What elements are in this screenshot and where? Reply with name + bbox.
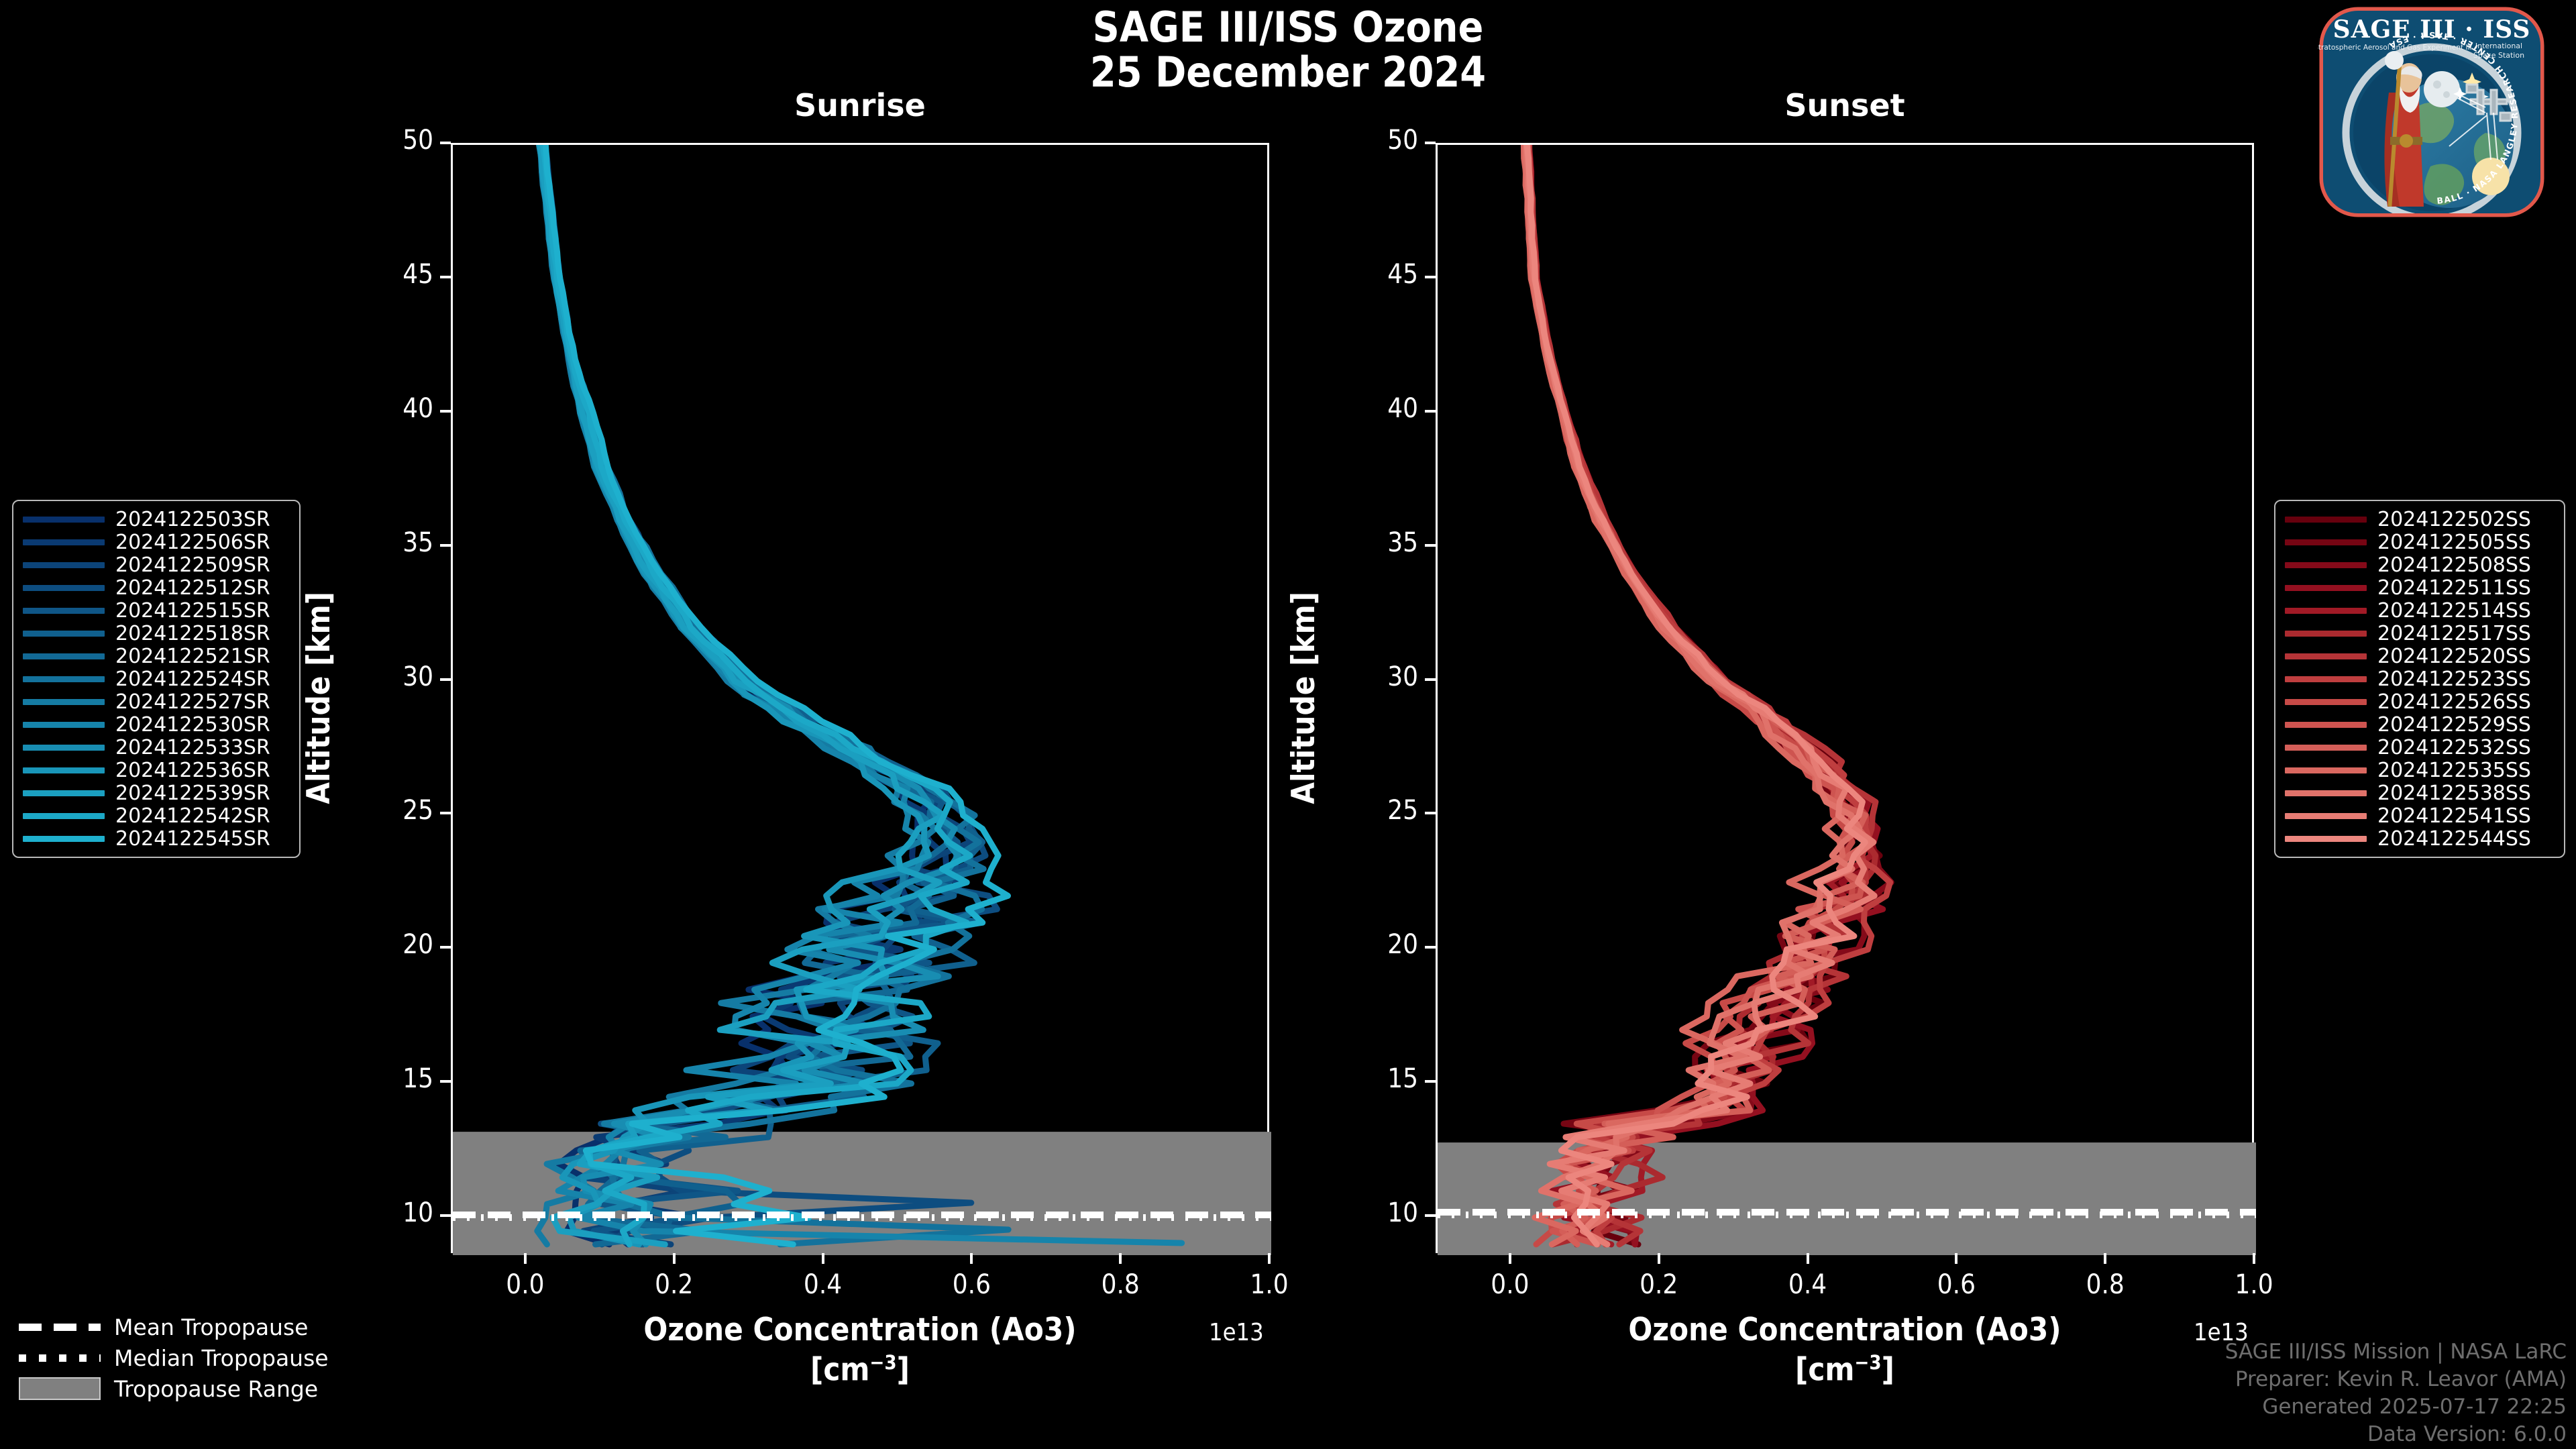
legend-item-label: 2024122502SS bbox=[2377, 508, 2531, 531]
tropopause-legend-label: Median Tropopause bbox=[114, 1345, 329, 1371]
patch-subtitle-left: Stratospheric Aerosol and Gas Experiment… bbox=[2318, 44, 2472, 52]
y-tick-mark bbox=[1425, 1080, 1436, 1083]
sage-iii-iss-mission-patch-logo: BALL · NASA LANGLEY RESEARCH CENTER · TA… bbox=[2318, 5, 2546, 219]
x-tick-mark bbox=[1268, 1253, 1271, 1264]
legend-item[interactable]: 2024122533SR bbox=[23, 736, 290, 759]
legend-item-label: 2024122511SS bbox=[2377, 576, 2531, 600]
x-tick-label: 0.2 bbox=[627, 1269, 721, 1300]
x-axis-offset-label: 1e13 bbox=[1209, 1319, 1264, 1346]
y-tick-label: 30 bbox=[364, 661, 433, 692]
legend-item[interactable]: 2024122541SS bbox=[2285, 804, 2555, 827]
mission-patch-svg: BALL · NASA LANGLEY RESEARCH CENTER · TA… bbox=[2318, 5, 2546, 219]
patch-title: SAGE III · ISS bbox=[2333, 15, 2531, 44]
legend-item-label: 2024122530SR bbox=[115, 713, 270, 737]
legend-item-label: 2024122523SS bbox=[2377, 667, 2531, 691]
tropopause-band-swatch bbox=[19, 1377, 101, 1400]
legend-item-label: 2024122521SR bbox=[115, 645, 270, 668]
legend-item-label: 2024122527SR bbox=[115, 690, 270, 714]
y-tick-mark bbox=[440, 1214, 451, 1217]
plot-axes-sunrise bbox=[451, 143, 1269, 1253]
y-axis-title: Altitude [km] bbox=[1285, 142, 1324, 1252]
legend-item[interactable]: 2024122515SR bbox=[23, 599, 290, 622]
x-tick-mark bbox=[2104, 1253, 2106, 1264]
moon-crater bbox=[2443, 91, 2450, 98]
legend-color-swatch bbox=[2285, 836, 2367, 842]
y-tick-label: 50 bbox=[1348, 125, 1418, 156]
x-axis-title-line-1: Ozone Concentration (Ao3) bbox=[451, 1311, 1269, 1350]
x-axis-title: Ozone Concentration (Ao3)[cm−3] bbox=[451, 1311, 1269, 1390]
x-tick-mark bbox=[970, 1253, 973, 1264]
tropopause-legend-label: Mean Tropopause bbox=[114, 1314, 308, 1340]
x-tick-mark bbox=[1807, 1253, 1809, 1264]
x-tick-label: 1.0 bbox=[2207, 1269, 2301, 1300]
legend-color-swatch bbox=[2285, 813, 2367, 819]
legend-color-swatch bbox=[23, 608, 105, 614]
x-tick-label: 0.2 bbox=[1612, 1269, 1706, 1300]
legend-item-label: 2024122536SR bbox=[115, 759, 270, 782]
y-tick-label: 20 bbox=[364, 929, 433, 960]
credits-line: Generated 2025-07-17 22:25 bbox=[2225, 1393, 2567, 1421]
tropopause-dotted-swatch bbox=[19, 1354, 101, 1362]
x-tick-label: 0.8 bbox=[1073, 1269, 1167, 1300]
y-tick-label: 10 bbox=[364, 1197, 433, 1228]
legend-item[interactable]: 2024122526SS bbox=[2285, 690, 2555, 713]
legend-item[interactable]: 2024122514SS bbox=[2285, 599, 2555, 622]
x-tick-mark bbox=[1955, 1253, 1957, 1264]
y-tick-mark bbox=[1425, 812, 1436, 814]
legend-color-swatch bbox=[2285, 745, 2367, 751]
x-axis-title: Ozone Concentration (Ao3)[cm−3] bbox=[1436, 1311, 2254, 1390]
legend-item-label: 2024122538SS bbox=[2377, 782, 2531, 805]
legend-item[interactable]: 2024122505SS bbox=[2285, 531, 2555, 553]
moon-crater bbox=[2433, 80, 2441, 89]
legend-item-label: 2024122539SR bbox=[115, 782, 270, 805]
legend-color-swatch bbox=[2285, 631, 2367, 637]
y-tick-mark bbox=[440, 410, 451, 413]
y-tick-mark bbox=[440, 946, 451, 949]
legend-color-swatch bbox=[2285, 539, 2367, 545]
tropopause-legend-item: Median Tropopause bbox=[19, 1342, 329, 1373]
legend-color-swatch bbox=[23, 836, 105, 842]
legend-color-swatch bbox=[23, 631, 105, 637]
legend-color-swatch bbox=[2285, 790, 2367, 796]
legend-color-swatch bbox=[23, 745, 105, 751]
legend-item-label: 2024122544SS bbox=[2377, 827, 2531, 851]
legend-item-label: 2024122542SR bbox=[115, 804, 270, 828]
profile-canvas-sunset bbox=[1438, 145, 2256, 1255]
legend-item[interactable]: 2024122524SR bbox=[23, 667, 290, 690]
plot-axes-sunset bbox=[1436, 143, 2254, 1253]
y-tick-label: 40 bbox=[1348, 393, 1418, 424]
tropopause-legend-item: Tropopause Range bbox=[19, 1373, 329, 1404]
y-axis-title: Altitude [km] bbox=[300, 142, 339, 1252]
legend-item[interactable]: 2024122512SR bbox=[23, 576, 290, 599]
legend-color-swatch bbox=[2285, 585, 2367, 591]
legend-item-label: 2024122526SS bbox=[2377, 690, 2531, 714]
legend-item[interactable]: 2024122503SR bbox=[23, 508, 290, 531]
y-tick-label: 50 bbox=[364, 125, 433, 156]
legend-color-swatch bbox=[2285, 767, 2367, 773]
x-tick-label: 0.4 bbox=[1761, 1269, 1855, 1300]
y-tick-mark bbox=[1425, 142, 1436, 144]
x-tick-mark bbox=[673, 1253, 676, 1264]
y-tick-label: 40 bbox=[364, 393, 433, 424]
y-tick-mark bbox=[440, 544, 451, 547]
y-tick-label: 35 bbox=[1348, 527, 1418, 558]
y-tick-label: 30 bbox=[1348, 661, 1418, 692]
legend-item-label: 2024122512SR bbox=[115, 576, 270, 600]
y-tick-mark bbox=[440, 678, 451, 681]
legend-item[interactable]: 2024122530SR bbox=[23, 713, 290, 736]
legend-color-swatch bbox=[2285, 608, 2367, 614]
legend-color-swatch bbox=[23, 539, 105, 545]
x-tick-mark bbox=[1119, 1253, 1122, 1264]
x-axis-title-line-1: Ozone Concentration (Ao3) bbox=[1436, 1311, 2254, 1350]
legend-item-label: 2024122529SS bbox=[2377, 713, 2531, 737]
legend-item[interactable]: 2024122527SR bbox=[23, 690, 290, 713]
x-tick-mark bbox=[2253, 1253, 2255, 1264]
y-tick-mark bbox=[1425, 544, 1436, 547]
legend-item-label: 2024122533SR bbox=[115, 736, 270, 759]
ozone-profile-line bbox=[1525, 145, 1859, 1244]
legend-item[interactable]: 2024122517SS bbox=[2285, 622, 2555, 645]
y-tick-mark bbox=[1425, 946, 1436, 949]
x-tick-mark bbox=[822, 1253, 824, 1264]
y-tick-mark bbox=[440, 142, 451, 144]
x-axis-title-line-2: [cm−3] bbox=[1436, 1350, 2254, 1390]
y-tick-mark bbox=[1425, 678, 1436, 681]
ozone-profile-line bbox=[1524, 145, 1843, 1244]
legend-item[interactable]: 2024122535SS bbox=[2285, 759, 2555, 782]
legend-item-label: 2024122503SR bbox=[115, 508, 270, 531]
legend-item-label: 2024122506SR bbox=[115, 531, 270, 554]
x-tick-label: 0.4 bbox=[776, 1269, 870, 1300]
tropopause-legend: Mean TropopauseMedian TropopauseTropopau… bbox=[19, 1311, 329, 1404]
page-title: SAGE III/ISS Ozone 25 December 2024 bbox=[0, 5, 2576, 95]
ozone-profile-line bbox=[1526, 145, 1860, 1244]
credits-block: SAGE III/ISS Mission | NASA LaRCPreparer… bbox=[2225, 1338, 2567, 1448]
credits-line: SAGE III/ISS Mission | NASA LaRC bbox=[2225, 1338, 2567, 1366]
legend-item-label: 2024122505SS bbox=[2377, 531, 2531, 554]
legend-item[interactable]: 2024122544SS bbox=[2285, 827, 2555, 850]
legend-item-label: 2024122509SR bbox=[115, 553, 270, 577]
legend-sunset[interactable]: 2024122502SS2024122505SS2024122508SS2024… bbox=[2274, 500, 2565, 858]
legend-item[interactable]: 2024122511SS bbox=[2285, 576, 2555, 599]
legend-item-label: 2024122545SR bbox=[115, 827, 270, 851]
legend-item[interactable]: 2024122502SS bbox=[2285, 508, 2555, 531]
ozone-profile-line bbox=[1524, 145, 1853, 1244]
x-tick-label: 0.0 bbox=[478, 1269, 572, 1300]
y-tick-mark bbox=[440, 1080, 451, 1083]
panel-title-sunrise: Sunrise bbox=[451, 87, 1269, 123]
x-tick-label: 0.8 bbox=[2058, 1269, 2152, 1300]
legend-item[interactable]: 2024122521SR bbox=[23, 645, 290, 667]
legend-item-label: 2024122535SS bbox=[2377, 759, 2531, 782]
y-tick-label: 15 bbox=[364, 1063, 433, 1094]
legend-color-swatch bbox=[23, 813, 105, 819]
y-tick-label: 20 bbox=[1348, 929, 1418, 960]
legend-item[interactable]: 2024122539SR bbox=[23, 782, 290, 804]
y-tick-mark bbox=[1425, 276, 1436, 278]
y-tick-label: 25 bbox=[364, 795, 433, 826]
legend-item[interactable]: 2024122508SS bbox=[2285, 553, 2555, 576]
patch-subtitle-right-1: International bbox=[2475, 42, 2522, 50]
legend-item[interactable]: 2024122532SS bbox=[2285, 736, 2555, 759]
ozone-profile-line bbox=[1525, 145, 1863, 1244]
legend-item[interactable]: 2024122542SR bbox=[23, 804, 290, 827]
legend-item[interactable]: 2024122538SS bbox=[2285, 782, 2555, 804]
legend-item[interactable]: 2024122506SR bbox=[23, 531, 290, 553]
legend-color-swatch bbox=[23, 790, 105, 796]
legend-color-swatch bbox=[2285, 562, 2367, 568]
legend-color-swatch bbox=[23, 676, 105, 682]
x-axis-title-line-2: [cm−3] bbox=[451, 1350, 1269, 1390]
y-tick-mark bbox=[1425, 1214, 1436, 1217]
legend-item-label: 2024122524SR bbox=[115, 667, 270, 691]
x-tick-mark bbox=[1509, 1253, 1511, 1264]
y-tick-label: 45 bbox=[1348, 259, 1418, 290]
legend-item-label: 2024122515SR bbox=[115, 599, 270, 623]
legend-color-swatch bbox=[2285, 699, 2367, 705]
legend-item-label: 2024122508SS bbox=[2377, 553, 2531, 577]
legend-item[interactable]: 2024122523SS bbox=[2285, 667, 2555, 690]
x-tick-label: 0.0 bbox=[1463, 1269, 1557, 1300]
legend-item-label: 2024122532SS bbox=[2377, 736, 2531, 759]
credits-line: Data Version: 6.0.0 bbox=[2225, 1421, 2567, 1448]
legend-color-swatch bbox=[2285, 517, 2367, 523]
legend-color-swatch bbox=[23, 517, 105, 523]
y-tick-mark bbox=[440, 276, 451, 278]
legend-color-swatch bbox=[23, 722, 105, 728]
tropopause-dashed-swatch bbox=[19, 1324, 101, 1331]
ozone-profile-line bbox=[1527, 145, 1865, 1244]
legend-color-swatch bbox=[2285, 653, 2367, 659]
legend-color-swatch bbox=[2285, 676, 2367, 682]
y-tick-label: 35 bbox=[364, 527, 433, 558]
legend-item-label: 2024122514SS bbox=[2377, 599, 2531, 623]
credits-line: Preparer: Kevin R. Leavor (AMA) bbox=[2225, 1366, 2567, 1393]
legend-item-label: 2024122517SS bbox=[2377, 622, 2531, 645]
title-line-1: SAGE III/ISS Ozone bbox=[0, 5, 2576, 50]
x-tick-label: 0.6 bbox=[924, 1269, 1018, 1300]
legend-color-swatch bbox=[23, 562, 105, 568]
x-tick-mark bbox=[1658, 1253, 1660, 1264]
legend-item[interactable]: 2024122520SS bbox=[2285, 645, 2555, 667]
profile-canvas-sunrise bbox=[453, 145, 1271, 1255]
legend-item-label: 2024122520SS bbox=[2377, 645, 2531, 668]
legend-color-swatch bbox=[23, 585, 105, 591]
moon bbox=[2424, 71, 2460, 107]
tropopause-legend-item: Mean Tropopause bbox=[19, 1311, 329, 1342]
x-tick-label: 1.0 bbox=[1222, 1269, 1316, 1300]
y-tick-label: 45 bbox=[364, 259, 433, 290]
y-tick-mark bbox=[1425, 410, 1436, 413]
y-tick-mark bbox=[440, 812, 451, 814]
y-tick-label: 10 bbox=[1348, 1197, 1418, 1228]
legend-color-swatch bbox=[23, 699, 105, 705]
y-tick-label: 25 bbox=[1348, 795, 1418, 826]
legend-item[interactable]: 2024122509SR bbox=[23, 553, 290, 576]
panel-title-sunset: Sunset bbox=[1436, 87, 2254, 123]
x-tick-label: 0.6 bbox=[1909, 1269, 2003, 1300]
legend-sunrise[interactable]: 2024122503SR2024122506SR2024122509SR2024… bbox=[12, 500, 301, 858]
legend-item-label: 2024122541SS bbox=[2377, 804, 2531, 828]
x-tick-mark bbox=[524, 1253, 527, 1264]
legend-item[interactable]: 2024122545SR bbox=[23, 827, 290, 850]
legend-item[interactable]: 2024122529SS bbox=[2285, 713, 2555, 736]
legend-item[interactable]: 2024122536SR bbox=[23, 759, 290, 782]
staff-orb bbox=[2385, 51, 2404, 70]
tropopause-legend-label: Tropopause Range bbox=[114, 1376, 318, 1402]
legend-color-swatch bbox=[23, 653, 105, 659]
patch-subtitle-right-2: Space Station bbox=[2473, 51, 2524, 60]
legend-item-label: 2024122518SR bbox=[115, 622, 270, 645]
y-tick-label: 15 bbox=[1348, 1063, 1418, 1094]
legend-color-swatch bbox=[23, 767, 105, 773]
legend-item[interactable]: 2024122518SR bbox=[23, 622, 290, 645]
legend-color-swatch bbox=[2285, 722, 2367, 728]
